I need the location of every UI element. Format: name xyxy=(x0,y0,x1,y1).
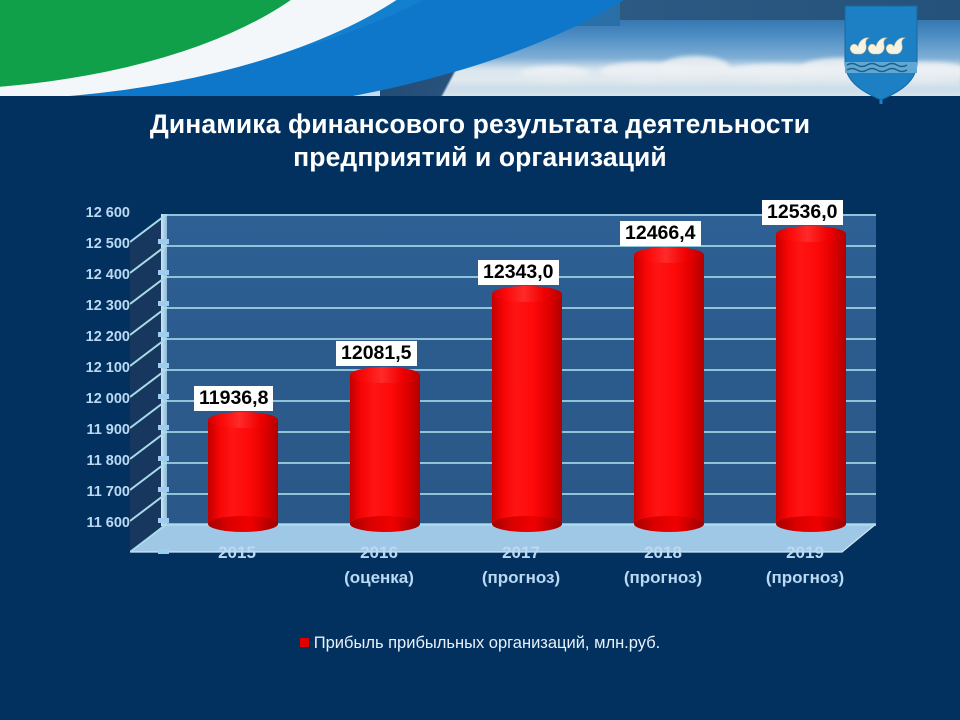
y-axis-tick xyxy=(158,456,169,461)
y-axis-tick-label: 12 200 xyxy=(56,329,130,345)
y-axis-tick xyxy=(158,518,169,523)
bar-data-label: 12536,0 xyxy=(762,200,843,225)
y-axis-tick-label: 12 300 xyxy=(56,298,130,314)
y-axis-tick-label: 12 100 xyxy=(56,360,130,376)
bar-top-ellipse xyxy=(776,226,846,242)
bar-body xyxy=(208,420,278,524)
page-title-line1: Динамика финансового результата деятельн… xyxy=(40,108,920,141)
x-axis-category-label: 2016(оценка) xyxy=(308,540,450,590)
bar-body xyxy=(492,294,562,524)
x-axis-category-label: 2015 xyxy=(166,540,308,565)
x-axis-year: 2019 xyxy=(786,543,824,562)
x-axis-category-label: 2017(прогноз) xyxy=(450,540,592,590)
bar-data-label: 12466,4 xyxy=(620,221,701,246)
header-banner xyxy=(0,0,960,100)
x-axis-category-label: 2018(прогноз) xyxy=(592,540,734,590)
bar-top-ellipse xyxy=(492,286,562,302)
y-axis-tick xyxy=(158,487,169,492)
y-axis-tick xyxy=(158,239,169,244)
bar-chart: 12 60012 50012 40012 30012 20012 10012 0… xyxy=(0,196,960,676)
y-axis-tick-label: 11 700 xyxy=(56,484,130,500)
y-axis-tick-label: 11 900 xyxy=(56,422,130,438)
x-axis-note: (прогноз) xyxy=(450,565,592,590)
banner-bottom-edge xyxy=(0,96,960,100)
x-axis-year: 2015 xyxy=(218,543,256,562)
x-axis-labels: 20152016(оценка)2017(прогноз)2018(прогно… xyxy=(130,540,870,610)
x-axis-year: 2017 xyxy=(502,543,540,562)
y-axis-tick xyxy=(158,394,169,399)
bar-bottom-ellipse xyxy=(208,516,278,532)
bar-bottom-ellipse xyxy=(634,516,704,532)
x-axis-note: (прогноз) xyxy=(592,565,734,590)
page-title: Динамика финансового результата деятельн… xyxy=(40,108,920,174)
bar[interactable] xyxy=(208,420,278,524)
bar-bottom-ellipse xyxy=(350,516,420,532)
bar-top-ellipse xyxy=(350,367,420,383)
bar-bottom-ellipse xyxy=(776,516,846,532)
three-swans-coat-of-arms-icon xyxy=(843,4,919,104)
legend-label: Прибыль прибыльных организаций, млн.руб. xyxy=(314,634,660,652)
y-axis-labels: 12 60012 50012 40012 30012 20012 10012 0… xyxy=(56,196,130,536)
y-axis-tick xyxy=(158,425,169,430)
bar-body xyxy=(350,375,420,524)
y-axis-tick-label: 12 500 xyxy=(56,236,130,252)
x-axis-year: 2016 xyxy=(360,543,398,562)
plot-area: 11936,812081,512343,012466,412536,0 xyxy=(130,214,860,554)
page-title-line2: предприятий и организаций xyxy=(40,141,920,174)
x-axis-category-label: 2019(прогноз) xyxy=(734,540,876,590)
y-axis-tick-label: 12 000 xyxy=(56,391,130,407)
x-axis-year: 2018 xyxy=(644,543,682,562)
slide-canvas: Динамика финансового результата деятельн… xyxy=(0,0,960,720)
bar[interactable] xyxy=(492,294,562,524)
y-axis-tick xyxy=(158,270,169,275)
legend-marker-icon xyxy=(300,638,309,647)
chart-legend[interactable]: Прибыль прибыльных организаций, млн.руб. xyxy=(0,634,960,653)
y-axis-tick-label: 11 600 xyxy=(56,515,130,531)
y-axis-tick xyxy=(158,301,169,306)
bar[interactable] xyxy=(776,234,846,524)
bar-bottom-ellipse xyxy=(492,516,562,532)
bar-body xyxy=(634,255,704,524)
bar-data-label: 12081,5 xyxy=(336,341,417,366)
gridline xyxy=(166,245,876,247)
bar-top-ellipse xyxy=(208,412,278,428)
y-axis-tick-label: 11 800 xyxy=(56,453,130,469)
bar[interactable] xyxy=(350,375,420,524)
y-axis-tick-label: 12 400 xyxy=(56,267,130,283)
x-axis-note: (прогноз) xyxy=(734,565,876,590)
bar-data-label: 12343,0 xyxy=(478,260,559,285)
x-axis-note: (оценка) xyxy=(308,565,450,590)
bar-data-label: 11936,8 xyxy=(194,386,273,411)
bar[interactable] xyxy=(634,255,704,524)
bar-body xyxy=(776,234,846,524)
y-axis-tick-label: 12 600 xyxy=(56,205,130,221)
y-axis-tick xyxy=(158,363,169,368)
y-axis-tick xyxy=(158,332,169,337)
